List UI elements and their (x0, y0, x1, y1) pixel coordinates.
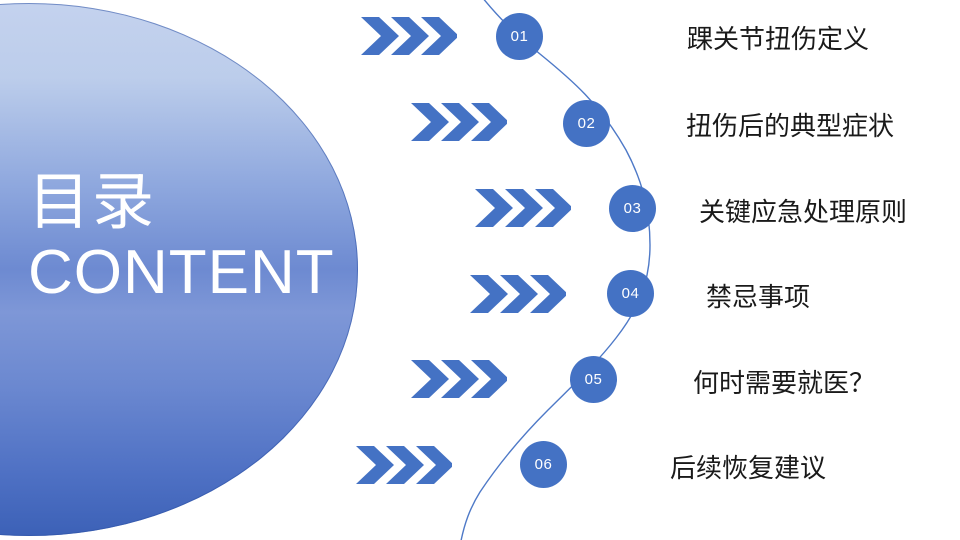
content-item-label-05: 何时需要就医？ (584, 363, 960, 400)
triple-chevron-right-icon (475, 189, 571, 227)
step-number-label: 01 (511, 28, 529, 45)
page-title: 目录 CONTENT (28, 172, 358, 304)
triple-chevron-right-icon (470, 275, 566, 313)
content-item-label-04: 禁忌事项 (558, 277, 958, 314)
content-item-label-02: 扭伤后的典型症状 (590, 106, 960, 143)
step-number-badge-01[interactable]: 01 (496, 13, 543, 60)
slide-canvas: 目录 CONTENT 01 踝关节扭伤定义 02 (0, 0, 960, 540)
triple-chevron-right-icon (356, 446, 452, 484)
triple-chevron-right-icon (361, 17, 457, 55)
triple-chevron-right-icon (411, 103, 507, 141)
content-item-label-03: 关键应急处理原则 (603, 192, 960, 229)
content-item-label-01: 踝关节扭伤定义 (578, 19, 960, 56)
title-english: CONTENT (28, 242, 358, 304)
content-item-label-06: 后续恢复建议 (548, 448, 948, 485)
title-chinese: 目录 (28, 172, 358, 234)
triple-chevron-right-icon (411, 360, 507, 398)
